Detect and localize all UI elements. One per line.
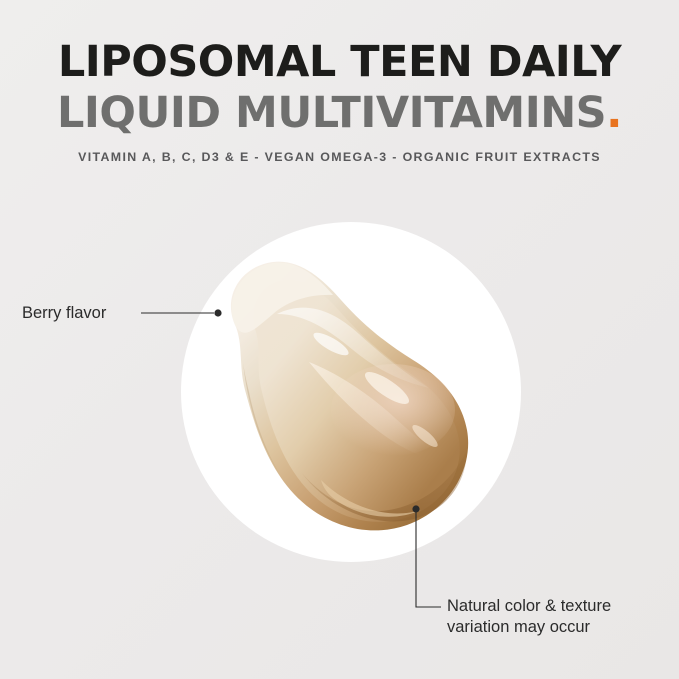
product-swatch <box>181 222 521 562</box>
callout-natural-variation: Natural color & texture variation may oc… <box>447 596 611 638</box>
subheadline: VITAMIN A, B, C, D3 & E - VEGAN OMEGA-3 … <box>0 150 679 164</box>
product-image-canvas: LIPOSOMAL TEEN DAILY LIQUID MULTIVITAMIN… <box>0 0 679 679</box>
headline-block: LIPOSOMAL TEEN DAILY LIQUID MULTIVITAMIN… <box>0 38 679 138</box>
headline-line-1: LIPOSOMAL TEEN DAILY <box>0 38 679 86</box>
swatch-illustration <box>181 222 521 562</box>
headline-accent-dot: . <box>606 88 622 138</box>
headline-line-2: LIQUID MULTIVITAMINS. <box>0 88 679 138</box>
callout-berry-flavor: Berry flavor <box>22 303 106 324</box>
headline-line-2-text: LIQUID MULTIVITAMINS <box>57 88 606 138</box>
